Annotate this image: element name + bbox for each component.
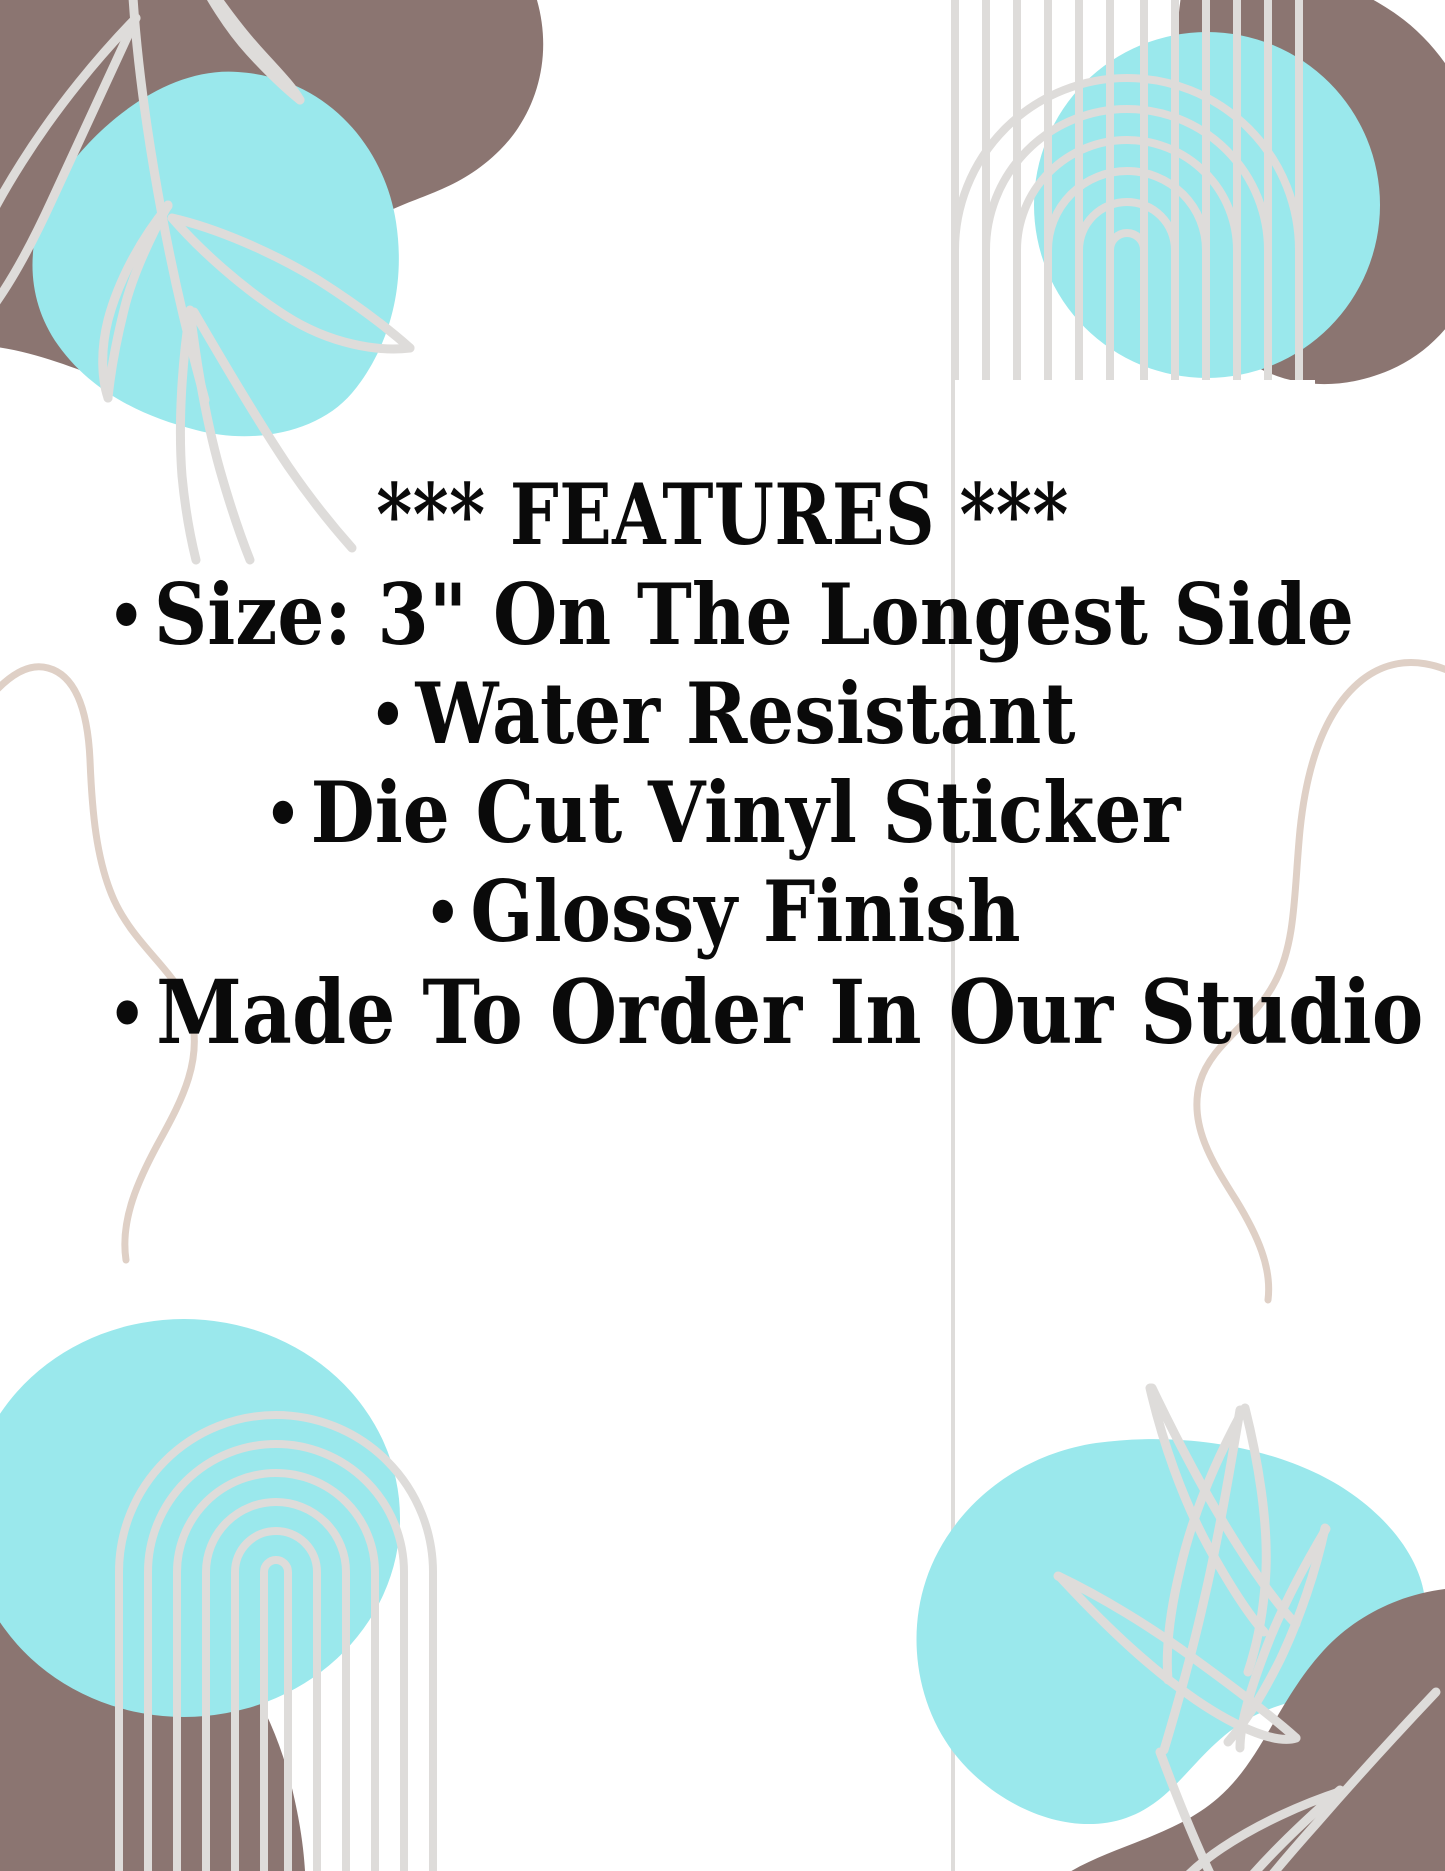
bullet-icon: • [265, 777, 311, 853]
bullet-icon: • [424, 876, 470, 952]
list-item: •Glossy Finish [108, 862, 1337, 961]
nested-arches-icon [119, 1415, 433, 1871]
bullet-icon: • [369, 678, 415, 754]
cyan-circle-icon [1034, 32, 1380, 378]
decoration-bottom-right [916, 1388, 1445, 1871]
bullet-icon: • [108, 975, 156, 1055]
feature-label: Glossy Finish [470, 862, 1020, 961]
features-content: *** FEATURES *** •Size: 3" On The Longes… [0, 470, 1445, 1065]
feature-label: Die Cut Vinyl Sticker [311, 763, 1181, 862]
brown-blob-icon [1060, 1588, 1445, 1871]
cyan-blob-icon [916, 1439, 1425, 1824]
cyan-circle-icon [0, 1319, 400, 1717]
list-item: •Size: 3" On The Longest Side [108, 565, 1337, 664]
list-item: •Die Cut Vinyl Sticker [108, 763, 1337, 862]
features-list: •Size: 3" On The Longest Side •Water Res… [24, 565, 1421, 1065]
list-item: •Water Resistant [108, 664, 1337, 763]
brown-blob-icon [0, 0, 543, 399]
brown-blob-icon [1177, 0, 1445, 384]
decoration-bottom-left [0, 1319, 433, 1871]
feature-label: Size: 3" On The Longest Side [154, 565, 1354, 664]
bullet-icon: • [108, 579, 154, 655]
leaf-line-art-icon [1058, 1388, 1436, 1871]
page-title: *** FEATURES *** [150, 470, 1296, 559]
cyan-blob-icon [32, 72, 398, 437]
feature-label: Water Resistant [416, 664, 1076, 763]
brown-blob-icon [0, 1556, 306, 1871]
features-poster: *** FEATURES *** •Size: 3" On The Longes… [0, 0, 1445, 1871]
list-item: •Made To Order In Our Studio [108, 961, 1337, 1065]
feature-label: Made To Order In Our Studio [156, 960, 1423, 1064]
nested-arches-tails-icon [955, 0, 1299, 252]
